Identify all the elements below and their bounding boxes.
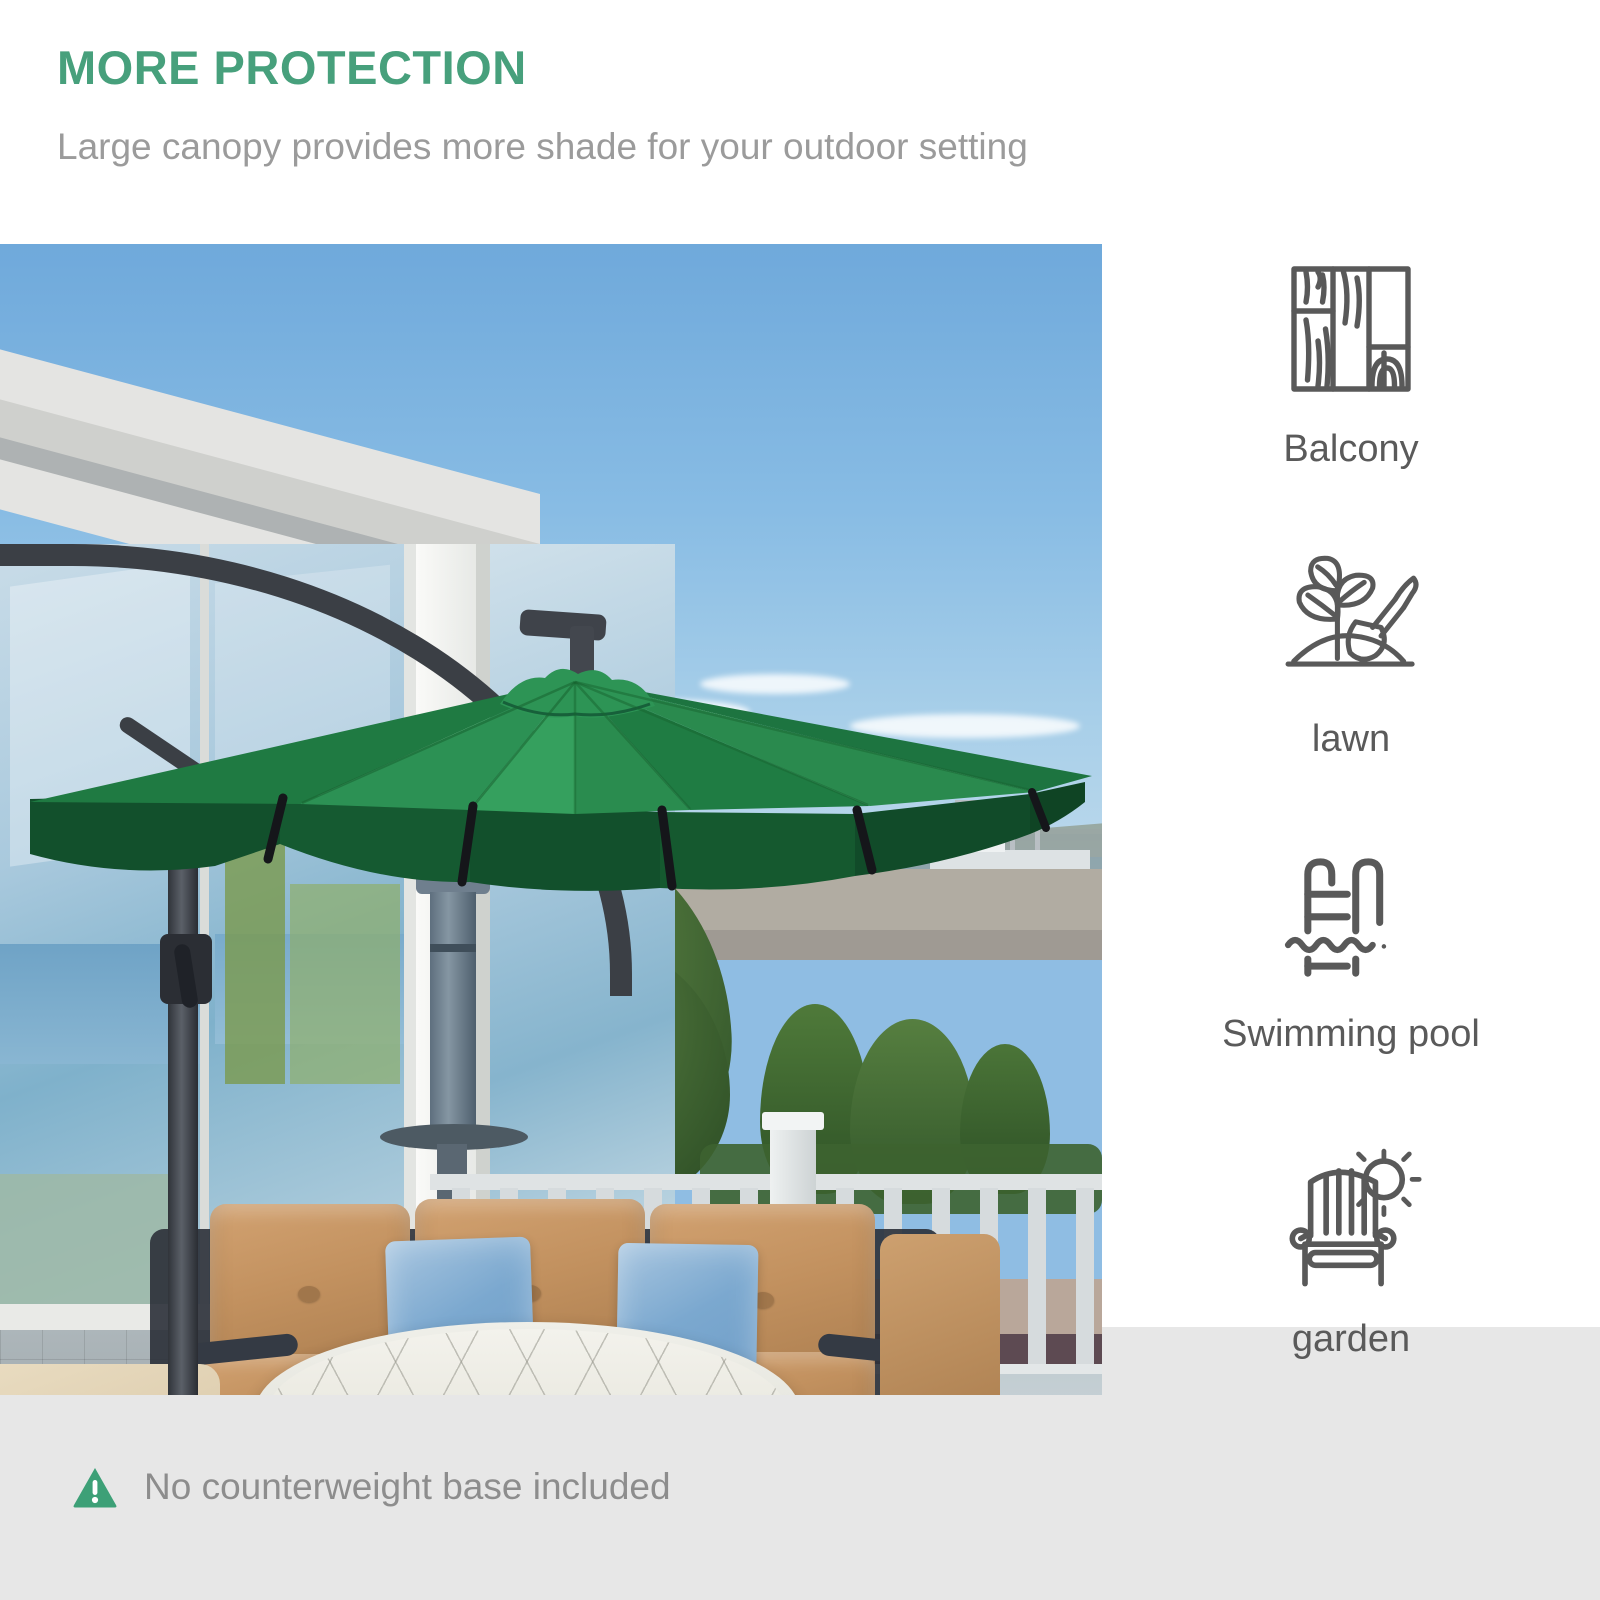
railing-post-cap [762, 1112, 824, 1130]
canopy-valance [855, 794, 1030, 876]
feature-item-lawn[interactable]: lawn [1102, 534, 1600, 761]
footer-note: No counterweight base included [72, 1466, 671, 1508]
page-title: MORE PROTECTION [57, 40, 527, 95]
deck-planks-icon [1102, 244, 1600, 414]
product-photo [0, 244, 1102, 1395]
pool-ladder-icon [1102, 829, 1600, 999]
feature-label: Swimming pool [1102, 1013, 1600, 1056]
right-armchair [880, 1234, 1000, 1395]
canopy-valance [30, 794, 280, 870]
baluster [1028, 1188, 1046, 1368]
header-banner: MORE PROTECTION Large canopy provides mo… [0, 0, 1600, 244]
footer-note-text: No counterweight base included [144, 1466, 671, 1508]
baluster [1076, 1188, 1094, 1368]
railing-top-rail [430, 1174, 1102, 1190]
canopy-valance [660, 812, 855, 890]
feature-label: garden [1102, 1318, 1600, 1361]
feature-item-balcony[interactable]: Balcony [1102, 244, 1600, 471]
warning-triangle-icon [72, 1466, 118, 1508]
adirondack-chair-sun-icon [1102, 1134, 1600, 1304]
page-subtitle: Large canopy provides more shade for you… [57, 126, 1028, 168]
umbrella-canopy [0, 644, 1102, 954]
canopy-valance [470, 804, 660, 891]
feature-list: Balcony [1102, 244, 1600, 1600]
feature-item-swimming-pool[interactable]: Swimming pool [1102, 829, 1600, 1056]
feature-label: Balcony [1102, 428, 1600, 471]
plant-trowel-icon [1102, 534, 1600, 704]
feature-item-garden[interactable]: garden [1102, 1134, 1600, 1361]
feature-label: lawn [1102, 718, 1600, 761]
